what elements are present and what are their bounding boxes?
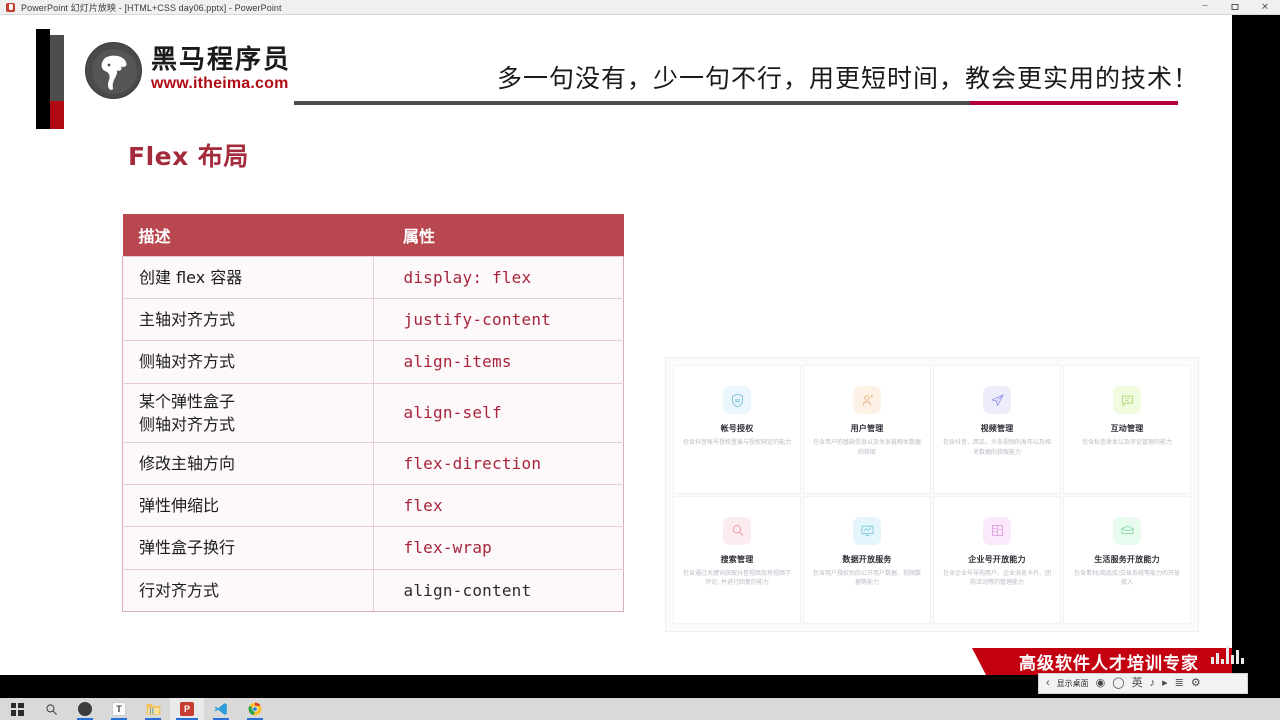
page-title: Flex 布局 xyxy=(128,137,249,173)
flex-property-table: 描述 属性 创建 flex 容器 display: flex 主轴对齐方式 ju… xyxy=(122,214,624,612)
card-interaction-management: 互动管理 包含私信收发以及评论管理的能力 xyxy=(1063,365,1191,494)
card-title: 搜索管理 xyxy=(721,554,754,565)
powerpoint-icon: P xyxy=(180,702,194,716)
cell-prop: display: flex xyxy=(373,257,624,299)
card-video-management: 视频管理 包含抖音、西瓜、头条视频的发布以及相关数据的获取能力 xyxy=(933,365,1061,494)
powerpoint-window: PowerPoint 幻灯片放映 - [HTML+CSS day06.pptx]… xyxy=(0,0,1280,698)
slide-letterbox-right xyxy=(1232,15,1280,675)
building-icon xyxy=(983,517,1011,545)
task-browser[interactable] xyxy=(68,698,102,720)
cell-desc: 弹性伸缩比 xyxy=(123,485,374,527)
cell-desc: 修改主轴方向 xyxy=(123,442,374,484)
comment-glyph-icon xyxy=(1120,393,1135,408)
search-glyph-icon xyxy=(730,523,745,538)
window-title: PowerPoint 幻灯片放映 - [HTML+CSS day06.pptx]… xyxy=(21,1,282,14)
card-desc: 包含企业号导购用户、企业消息卡片、团购活动等的管理能力 xyxy=(934,569,1060,588)
horse-glyph-icon xyxy=(97,52,133,92)
footer-banner-text: 高级软件人才培训专家 xyxy=(1019,649,1199,674)
card-desc: 包含私信收发以及评论管理的能力 xyxy=(1073,438,1181,448)
window-controls: – ✕ xyxy=(1190,0,1280,15)
windows-logo-icon xyxy=(11,703,24,716)
send-glyph-icon xyxy=(990,393,1005,408)
search-icon xyxy=(45,703,58,716)
sparkline-decor xyxy=(1211,642,1244,664)
cell-desc: 创建 flex 容器 xyxy=(123,257,374,299)
header-divider-red xyxy=(970,101,1178,105)
start-button[interactable] xyxy=(0,698,34,720)
table-row: 侧轴对齐方式 align-items xyxy=(123,341,624,383)
card-user-management: 用户管理 包含用户的基础信息以及关系链相关数据的获取 xyxy=(803,365,931,494)
cell-prop: flex-direction xyxy=(373,442,624,484)
decor-gray-bar xyxy=(50,35,64,101)
note-icon[interactable]: ♪ xyxy=(1150,678,1156,689)
table-row: 弹性伸缩比 flex xyxy=(123,485,624,527)
card-desc: 包含用户授权后的公开用户数据、视频数据等能力 xyxy=(804,569,930,588)
prev-icon[interactable]: ‹ xyxy=(1046,678,1050,689)
table-head: 描述 属性 xyxy=(123,214,624,257)
card-title: 数据开放服务 xyxy=(842,554,891,565)
cell-prop: justify-content xyxy=(373,299,624,341)
card-life-service-open-capability: 生活服务开放能力 包含素材/商品库/交易系统等能力的开放接入 xyxy=(1063,496,1191,625)
card-data-open-service: 数据开放服务 包含用户授权后的公开用户数据、视频数据等能力 xyxy=(803,496,931,625)
windows-taskbar: T P xyxy=(0,698,1280,720)
table-row: 主轴对齐方式 justify-content xyxy=(123,299,624,341)
monitor-glyph-icon xyxy=(860,523,875,538)
table-row: 修改主轴方向 flex-direction xyxy=(123,442,624,484)
cell-desc: 主轴对齐方式 xyxy=(123,299,374,341)
column-header-desc: 描述 xyxy=(123,214,374,257)
card-search-management: 搜索管理 包含通过关键词获取抖音视频及将视频下评论, 并进行回复的能力 xyxy=(673,496,801,625)
task-vscode[interactable] xyxy=(204,698,238,720)
decor-black-bar xyxy=(36,29,50,129)
table-row: 行对齐方式 align-content xyxy=(123,569,624,611)
card-desc: 包含抖音、西瓜、头条视频的发布以及相关数据的获取能力 xyxy=(934,438,1060,457)
window-titlebar: PowerPoint 幻灯片放映 - [HTML+CSS day06.pptx]… xyxy=(0,0,1280,15)
horse-icon xyxy=(85,42,142,99)
slide-canvas[interactable]: 黑马程序员 www.itheima.com 多一句没有，少一句不行，用更短时间，… xyxy=(0,15,1232,675)
footer-banner: 高级软件人才培训专家 xyxy=(986,648,1232,675)
brand-name-cn: 黑马程序员 xyxy=(151,47,291,74)
ime-icon[interactable]: 英 xyxy=(1132,678,1143,689)
task-explorer[interactable] xyxy=(136,698,170,720)
maximize-icon xyxy=(1232,4,1239,10)
cell-desc-line1: 某个弹性盒子 xyxy=(139,390,373,413)
card-account-auth: 帐号授权 包含抖音帐号授权登录与授权绑定的能力 xyxy=(673,365,801,494)
table-row: 某个弹性盒子 侧轴对齐方式 align-self xyxy=(123,383,624,442)
tray-label: 显示桌面 xyxy=(1057,678,1089,689)
slide-slogan: 多一句没有，少一句不行，用更短时间，教会更实用的技术！ xyxy=(497,59,1199,95)
card-title: 生活服务开放能力 xyxy=(1094,554,1160,565)
shield-glyph-icon xyxy=(730,393,745,408)
table-row: 创建 flex 容器 display: flex xyxy=(123,257,624,299)
task-chrome[interactable] xyxy=(238,698,272,720)
cell-prop: flex-wrap xyxy=(373,527,624,569)
cell-prop: align-self xyxy=(373,383,624,442)
send-icon xyxy=(983,386,1011,414)
cards-screenshot: 帐号授权 包含抖音帐号授权登录与授权绑定的能力 用户管理 包含用户的基础信息以及… xyxy=(665,357,1199,632)
card-title: 企业号开放能力 xyxy=(968,554,1025,565)
building-glyph-icon xyxy=(990,523,1005,538)
table-header-row: 描述 属性 xyxy=(123,214,624,257)
decor-red-bar xyxy=(50,101,64,129)
box-icon xyxy=(1113,517,1141,545)
shield-icon xyxy=(723,386,751,414)
cell-desc: 行对齐方式 xyxy=(123,569,374,611)
cell-desc-line2: 侧轴对齐方式 xyxy=(139,413,373,436)
pointer-icon[interactable]: ◯ xyxy=(1112,678,1124,689)
maximize-button[interactable] xyxy=(1220,0,1250,15)
table-body: 创建 flex 容器 display: flex 主轴对齐方式 justify-… xyxy=(123,257,624,612)
user-icon xyxy=(853,386,881,414)
header-divider xyxy=(294,101,1178,105)
search-button[interactable] xyxy=(34,698,68,720)
cards-grid: 帐号授权 包含抖音帐号授权登录与授权绑定的能力 用户管理 包含用户的基础信息以及… xyxy=(666,358,1198,631)
cell-prop: align-items xyxy=(373,341,624,383)
cell-prop: flex xyxy=(373,485,624,527)
card-desc: 包含用户的基础信息以及关系链相关数据的获取 xyxy=(804,438,930,457)
vscode-icon xyxy=(214,702,228,716)
browser-icon xyxy=(78,702,92,716)
flag-icon[interactable]: ▸ xyxy=(1162,678,1168,689)
close-button[interactable]: ✕ xyxy=(1250,0,1280,15)
folder-icon xyxy=(146,702,161,716)
card-title: 帐号授权 xyxy=(721,423,754,434)
minimize-icon: – xyxy=(1202,0,1207,9)
typora-icon: T xyxy=(112,702,126,716)
cell-desc: 弹性盒子换行 xyxy=(123,527,374,569)
cell-desc: 侧轴对齐方式 xyxy=(123,341,374,383)
card-desc: 包含抖音帐号授权登录与授权绑定的能力 xyxy=(674,438,800,448)
user-glyph-icon xyxy=(860,393,875,408)
chrome-icon xyxy=(248,702,262,716)
list-icon[interactable]: ≣ xyxy=(1175,678,1184,689)
system-tray-overlay[interactable]: ‹ 显示桌面 ◉ ◯ 英 ♪ ▸ ≣ ⚙ xyxy=(1038,673,1248,694)
comment-icon xyxy=(1113,386,1141,414)
card-title: 视频管理 xyxy=(981,423,1014,434)
card-title: 用户管理 xyxy=(851,423,884,434)
powerpoint-icon xyxy=(6,3,15,12)
header-divider-dark xyxy=(294,101,970,105)
gear-icon[interactable]: ⚙ xyxy=(1191,678,1201,689)
card-title: 互动管理 xyxy=(1111,423,1144,434)
card-enterprise-open-capability: 企业号开放能力 包含企业号导购用户、企业消息卡片、团购活动等的管理能力 xyxy=(933,496,1061,625)
column-header-prop: 属性 xyxy=(373,214,624,257)
task-typora[interactable]: T xyxy=(102,698,136,720)
cell-desc: 某个弹性盒子 侧轴对齐方式 xyxy=(123,383,374,442)
table-row: 弹性盒子换行 flex-wrap xyxy=(123,527,624,569)
task-powerpoint[interactable]: P xyxy=(170,698,204,720)
brand-url: www.itheima.com xyxy=(151,75,291,93)
close-icon: ✕ xyxy=(1261,3,1269,12)
card-desc: 包含素材/商品库/交易系统等能力的开放接入 xyxy=(1064,569,1190,588)
box-glyph-icon xyxy=(1120,523,1135,538)
search-icon xyxy=(723,517,751,545)
pen-icon[interactable]: ◉ xyxy=(1096,678,1106,689)
minimize-button[interactable]: – xyxy=(1190,0,1220,15)
brand-logo: 黑马程序员 www.itheima.com xyxy=(85,42,291,99)
monitor-icon xyxy=(853,517,881,545)
card-desc: 包含通过关键词获取抖音视频及将视频下评论, 并进行回复的能力 xyxy=(674,569,800,588)
cell-prop: align-content xyxy=(373,569,624,611)
